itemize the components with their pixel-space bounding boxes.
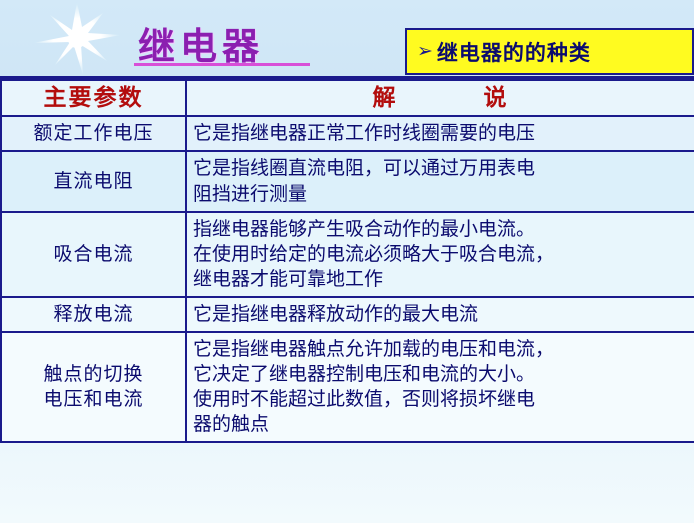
topic-label: 继电器的的种类 [437, 37, 591, 67]
desc-line: 继电器才能可靠地工作 [193, 267, 688, 292]
slide: 继电器 ➢ 继电器的的种类 主要参数 解说 额定工作电压 它是指继电器正常工作时… [0, 0, 694, 523]
desc-line: 阻挡进行测量 [193, 182, 688, 207]
desc-line: 指继电器能够产生吸合动作的最小电流。 [193, 217, 688, 242]
desc-line: 器的触点 [193, 412, 688, 437]
desc-release-current: 它是指继电器释放动作的最大电流 [186, 297, 694, 332]
param-pickup-current: 吸合电流 [1, 212, 186, 297]
table-header-row: 主要参数 解说 [1, 80, 694, 116]
param-release-current: 释放电流 [1, 297, 186, 332]
star-burst-icon [18, 2, 136, 76]
title-underline [134, 63, 310, 66]
desc-line: 它决定了继电器控制电压和电流的大小。 [193, 362, 688, 387]
table-row: 触点的切换 电压和电流 它是指继电器触点允许加载的电压和电流， 它决定了继电器控… [1, 332, 694, 442]
desc-line: 在使用时给定的电流必须略大于吸合电流， [193, 242, 688, 267]
desc-dc-resistance: 它是指线圈直流电阻，可以通过万用表电 阻挡进行测量 [186, 151, 694, 211]
column-header-desc-part1: 解 [373, 85, 398, 111]
param-rated-voltage: 额定工作电压 [1, 116, 186, 151]
slide-header: 继电器 ➢ 继电器的的种类 [0, 0, 694, 78]
column-header-param: 主要参数 [1, 80, 186, 116]
param-dc-resistance: 直流电阻 [1, 151, 186, 211]
table-row: 释放电流 它是指继电器释放动作的最大电流 [1, 297, 694, 332]
desc-line: 它是指继电器释放动作的最大电流 [193, 302, 688, 327]
parameters-table-area: 主要参数 解说 额定工作电压 它是指继电器正常工作时线圈需要的电压 直流电阻 它… [0, 79, 694, 523]
desc-line: 使用时不能超过此数值，否则将损坏继电 [193, 387, 688, 412]
desc-line: 它是指继电器正常工作时线圈需要的电压 [193, 121, 688, 146]
param-line: 触点的切换 [8, 362, 179, 387]
param-line: 电压和电流 [8, 387, 179, 412]
topic-banner: ➢ 继电器的的种类 [405, 28, 694, 75]
parameters-table: 主要参数 解说 额定工作电压 它是指继电器正常工作时线圈需要的电压 直流电阻 它… [0, 79, 694, 443]
desc-line: 它是指线圈直流电阻，可以通过万用表电 [193, 156, 688, 181]
desc-rated-voltage: 它是指继电器正常工作时线圈需要的电压 [186, 116, 694, 151]
column-header-desc-part2: 说 [484, 85, 509, 111]
table-row: 直流电阻 它是指线圈直流电阻，可以通过万用表电 阻挡进行测量 [1, 151, 694, 211]
desc-line: 它是指继电器触点允许加载的电压和电流， [193, 337, 688, 362]
table-row: 额定工作电压 它是指继电器正常工作时线圈需要的电压 [1, 116, 694, 151]
desc-pickup-current: 指继电器能够产生吸合动作的最小电流。 在使用时给定的电流必须略大于吸合电流， 继… [186, 212, 694, 297]
desc-contact-switching: 它是指继电器触点允许加载的电压和电流， 它决定了继电器控制电压和电流的大小。 使… [186, 332, 694, 442]
column-header-desc: 解说 [186, 80, 694, 116]
page-title: 继电器 [138, 16, 264, 70]
table-row: 吸合电流 指继电器能够产生吸合动作的最小电流。 在使用时给定的电流必须略大于吸合… [1, 212, 694, 297]
param-contact-switching: 触点的切换 电压和电流 [1, 332, 186, 442]
arrow-right-icon: ➢ [417, 42, 433, 61]
